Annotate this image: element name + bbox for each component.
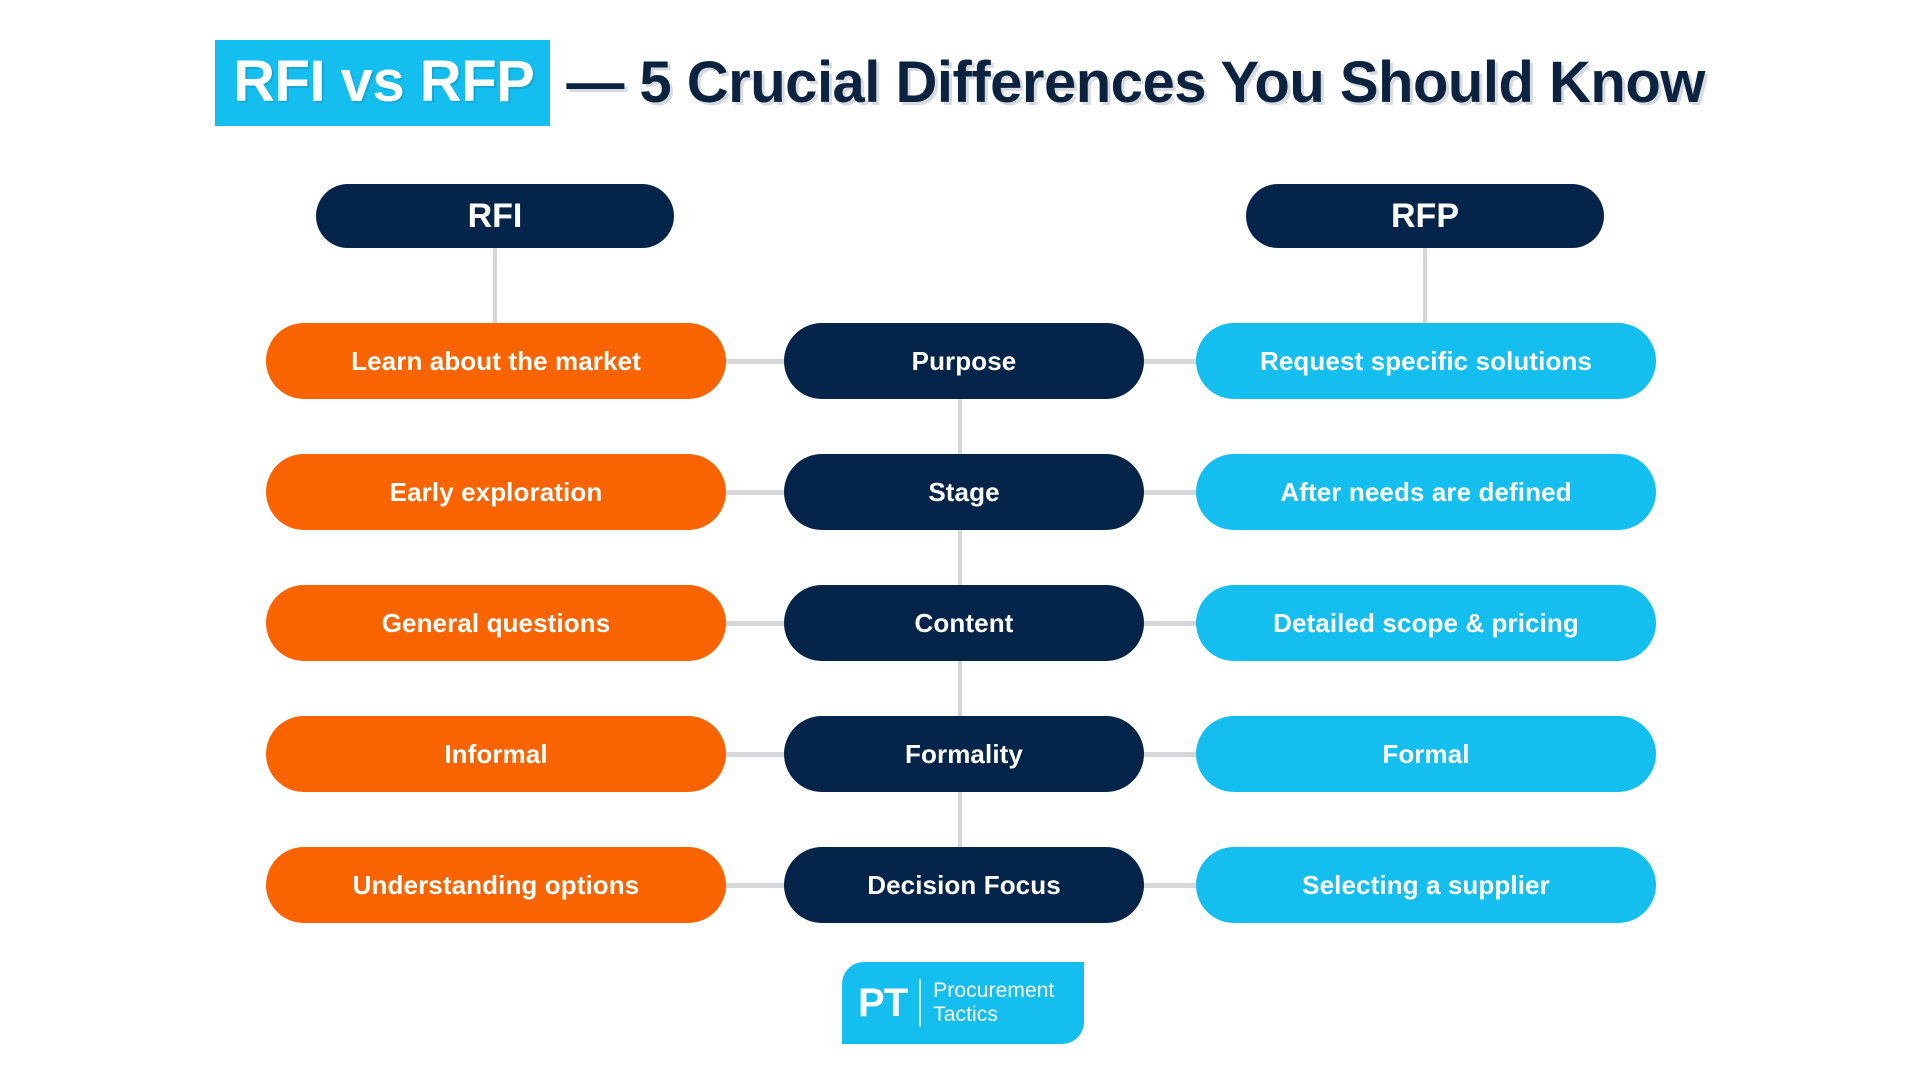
connector-left xyxy=(726,359,788,364)
connector-right xyxy=(1140,359,1200,364)
criterion-pill: Formality xyxy=(784,716,1144,792)
page-title: RFI vs RFP — 5 Crucial Differences You S… xyxy=(0,40,1920,126)
column-header-rfp: RFP xyxy=(1246,184,1604,248)
connector-vertical xyxy=(958,792,962,847)
connector-left xyxy=(726,490,788,495)
comparison-row: Understanding options Decision Focus Sel… xyxy=(0,847,1920,923)
rfi-value-pill: Understanding options xyxy=(266,847,726,923)
logo-word-line1: Procurement xyxy=(933,979,1054,1003)
criterion-pill: Decision Focus xyxy=(784,847,1144,923)
comparison-row: Learn about the market Purpose Request s… xyxy=(0,323,1920,399)
connector-right xyxy=(1140,752,1200,757)
connector-vertical xyxy=(958,530,962,585)
rfp-value-pill: Detailed scope & pricing xyxy=(1196,585,1656,661)
connector-right xyxy=(1140,621,1200,626)
criterion-pill: Content xyxy=(784,585,1144,661)
column-header-rfi: RFI xyxy=(316,184,674,248)
rfi-value-pill: General questions xyxy=(266,585,726,661)
title-highlight-rfi-vs-rfp: RFI vs RFP xyxy=(215,40,550,126)
logo-monogram: PT xyxy=(858,983,919,1023)
column-headers: RFI RFP xyxy=(0,184,1920,248)
rfp-value-pill: Selecting a supplier xyxy=(1196,847,1656,923)
connector-right xyxy=(1140,490,1200,495)
procurement-tactics-logo: PT Procurement Tactics xyxy=(842,962,1084,1044)
title-remainder: — 5 Crucial Differences You Should Know xyxy=(550,54,1705,112)
comparison-rows: Learn about the market Purpose Request s… xyxy=(0,323,1920,923)
connector-stem-rfp xyxy=(1423,248,1427,323)
infographic-canvas: RFI vs RFP — 5 Crucial Differences You S… xyxy=(0,0,1920,1080)
rfi-value-pill: Learn about the market xyxy=(266,323,726,399)
rfp-value-pill: Formal xyxy=(1196,716,1656,792)
rfi-value-pill: Informal xyxy=(266,716,726,792)
connector-vertical xyxy=(958,661,962,716)
connector-vertical xyxy=(958,399,962,454)
connector-right xyxy=(1140,883,1200,888)
connector-left xyxy=(726,752,788,757)
connector-left xyxy=(726,883,788,888)
comparison-row: Informal Formality Formal xyxy=(0,716,1920,792)
logo-wordmark: Procurement Tactics xyxy=(921,979,1054,1026)
rfi-value-pill: Early exploration xyxy=(266,454,726,530)
comparison-row: Early exploration Stage After needs are … xyxy=(0,454,1920,530)
rfp-value-pill: After needs are defined xyxy=(1196,454,1656,530)
connector-stem-rfi xyxy=(493,248,497,323)
rfp-value-pill: Request specific solutions xyxy=(1196,323,1656,399)
logo-word-line2: Tactics xyxy=(933,1003,1054,1027)
comparison-row: General questions Content Detailed scope… xyxy=(0,585,1920,661)
criterion-pill: Stage xyxy=(784,454,1144,530)
connector-left xyxy=(726,621,788,626)
criterion-pill: Purpose xyxy=(784,323,1144,399)
